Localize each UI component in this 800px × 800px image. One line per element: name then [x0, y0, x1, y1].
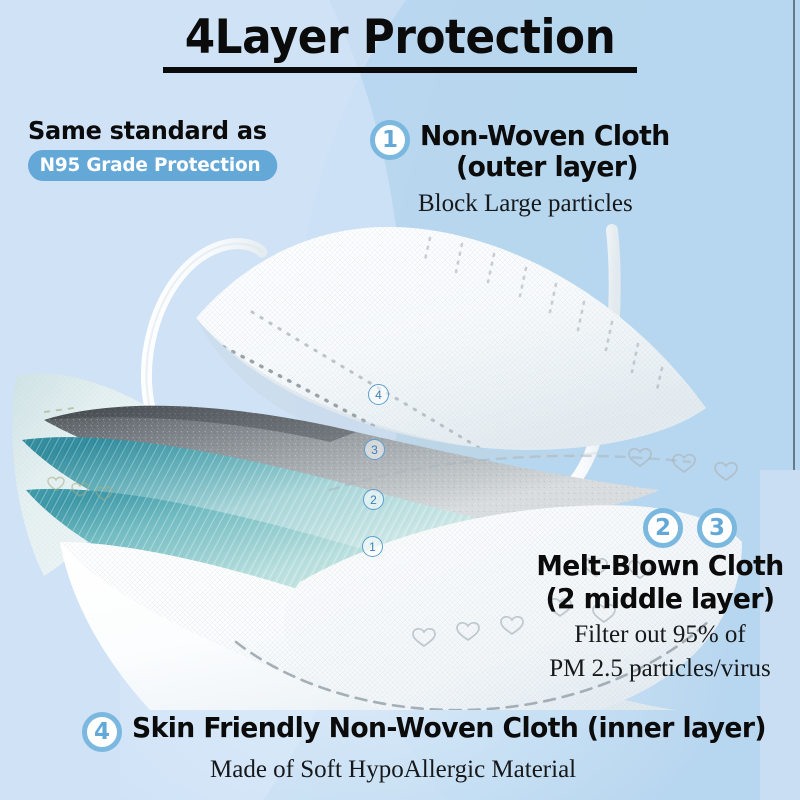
callout-1-title-line1: Non-Woven Cloth: [420, 120, 670, 151]
title-underline: [163, 67, 637, 73]
callout-4-subtitle: Made of Soft HypoAllergic Material: [210, 755, 799, 784]
callout-1-number-badge: 1: [370, 120, 410, 160]
layer-tag-4: 4: [368, 384, 389, 405]
layer-tag-3: 3: [364, 439, 385, 460]
callout-4-number-badge: 4: [82, 712, 122, 752]
callout-3-number-badge: 3: [697, 508, 737, 548]
callout-23-subtitle-line1: Filter out 95% of: [524, 620, 796, 649]
callout-layer-2-3: 2 3 Melt-Blown Cloth (2 middle layer) Fi…: [524, 508, 796, 683]
layer-tag-1: 1: [362, 536, 383, 557]
n95-grade-badge: N95 Grade Protection: [28, 150, 277, 181]
callout-23-title-line1: Melt-Blown Cloth: [531, 550, 789, 581]
infographic-poster: 4 3 2 1 4Layer Protection Same standard …: [0, 0, 800, 800]
callout-1-subtitle: Block Large particles: [418, 189, 683, 218]
callout-23-title-line2: (2 middle layer): [531, 583, 789, 614]
callout-1-title-line2: (outer layer): [456, 151, 671, 182]
callout-1-head-row: 1 Non-Woven Cloth (outer layer): [370, 120, 683, 183]
callout-4-title: Skin Friendly Non-Woven Cloth (inner lay…: [132, 712, 766, 743]
callout-layer-1: 1 Non-Woven Cloth (outer layer) Block La…: [370, 120, 683, 218]
callout-23-subtitle-line2: PM 2.5 particles/virus: [524, 654, 796, 683]
callout-2-number-badge: 2: [643, 508, 683, 548]
n95-standard-block: Same standard as N95 Grade Protection: [28, 116, 285, 181]
layer-tag-2: 2: [363, 489, 384, 510]
callout-23-badges: 2 3: [584, 508, 796, 548]
callout-4-head-row: 4 Skin Friendly Non-Woven Cloth (inner l…: [82, 712, 799, 752]
page-title: 4Layer Protection: [28, 14, 772, 63]
n95-heading: Same standard as: [28, 116, 274, 145]
callout-layer-4: 4 Skin Friendly Non-Woven Cloth (inner l…: [82, 712, 799, 784]
poster-title-block: 4Layer Protection: [0, 14, 800, 73]
